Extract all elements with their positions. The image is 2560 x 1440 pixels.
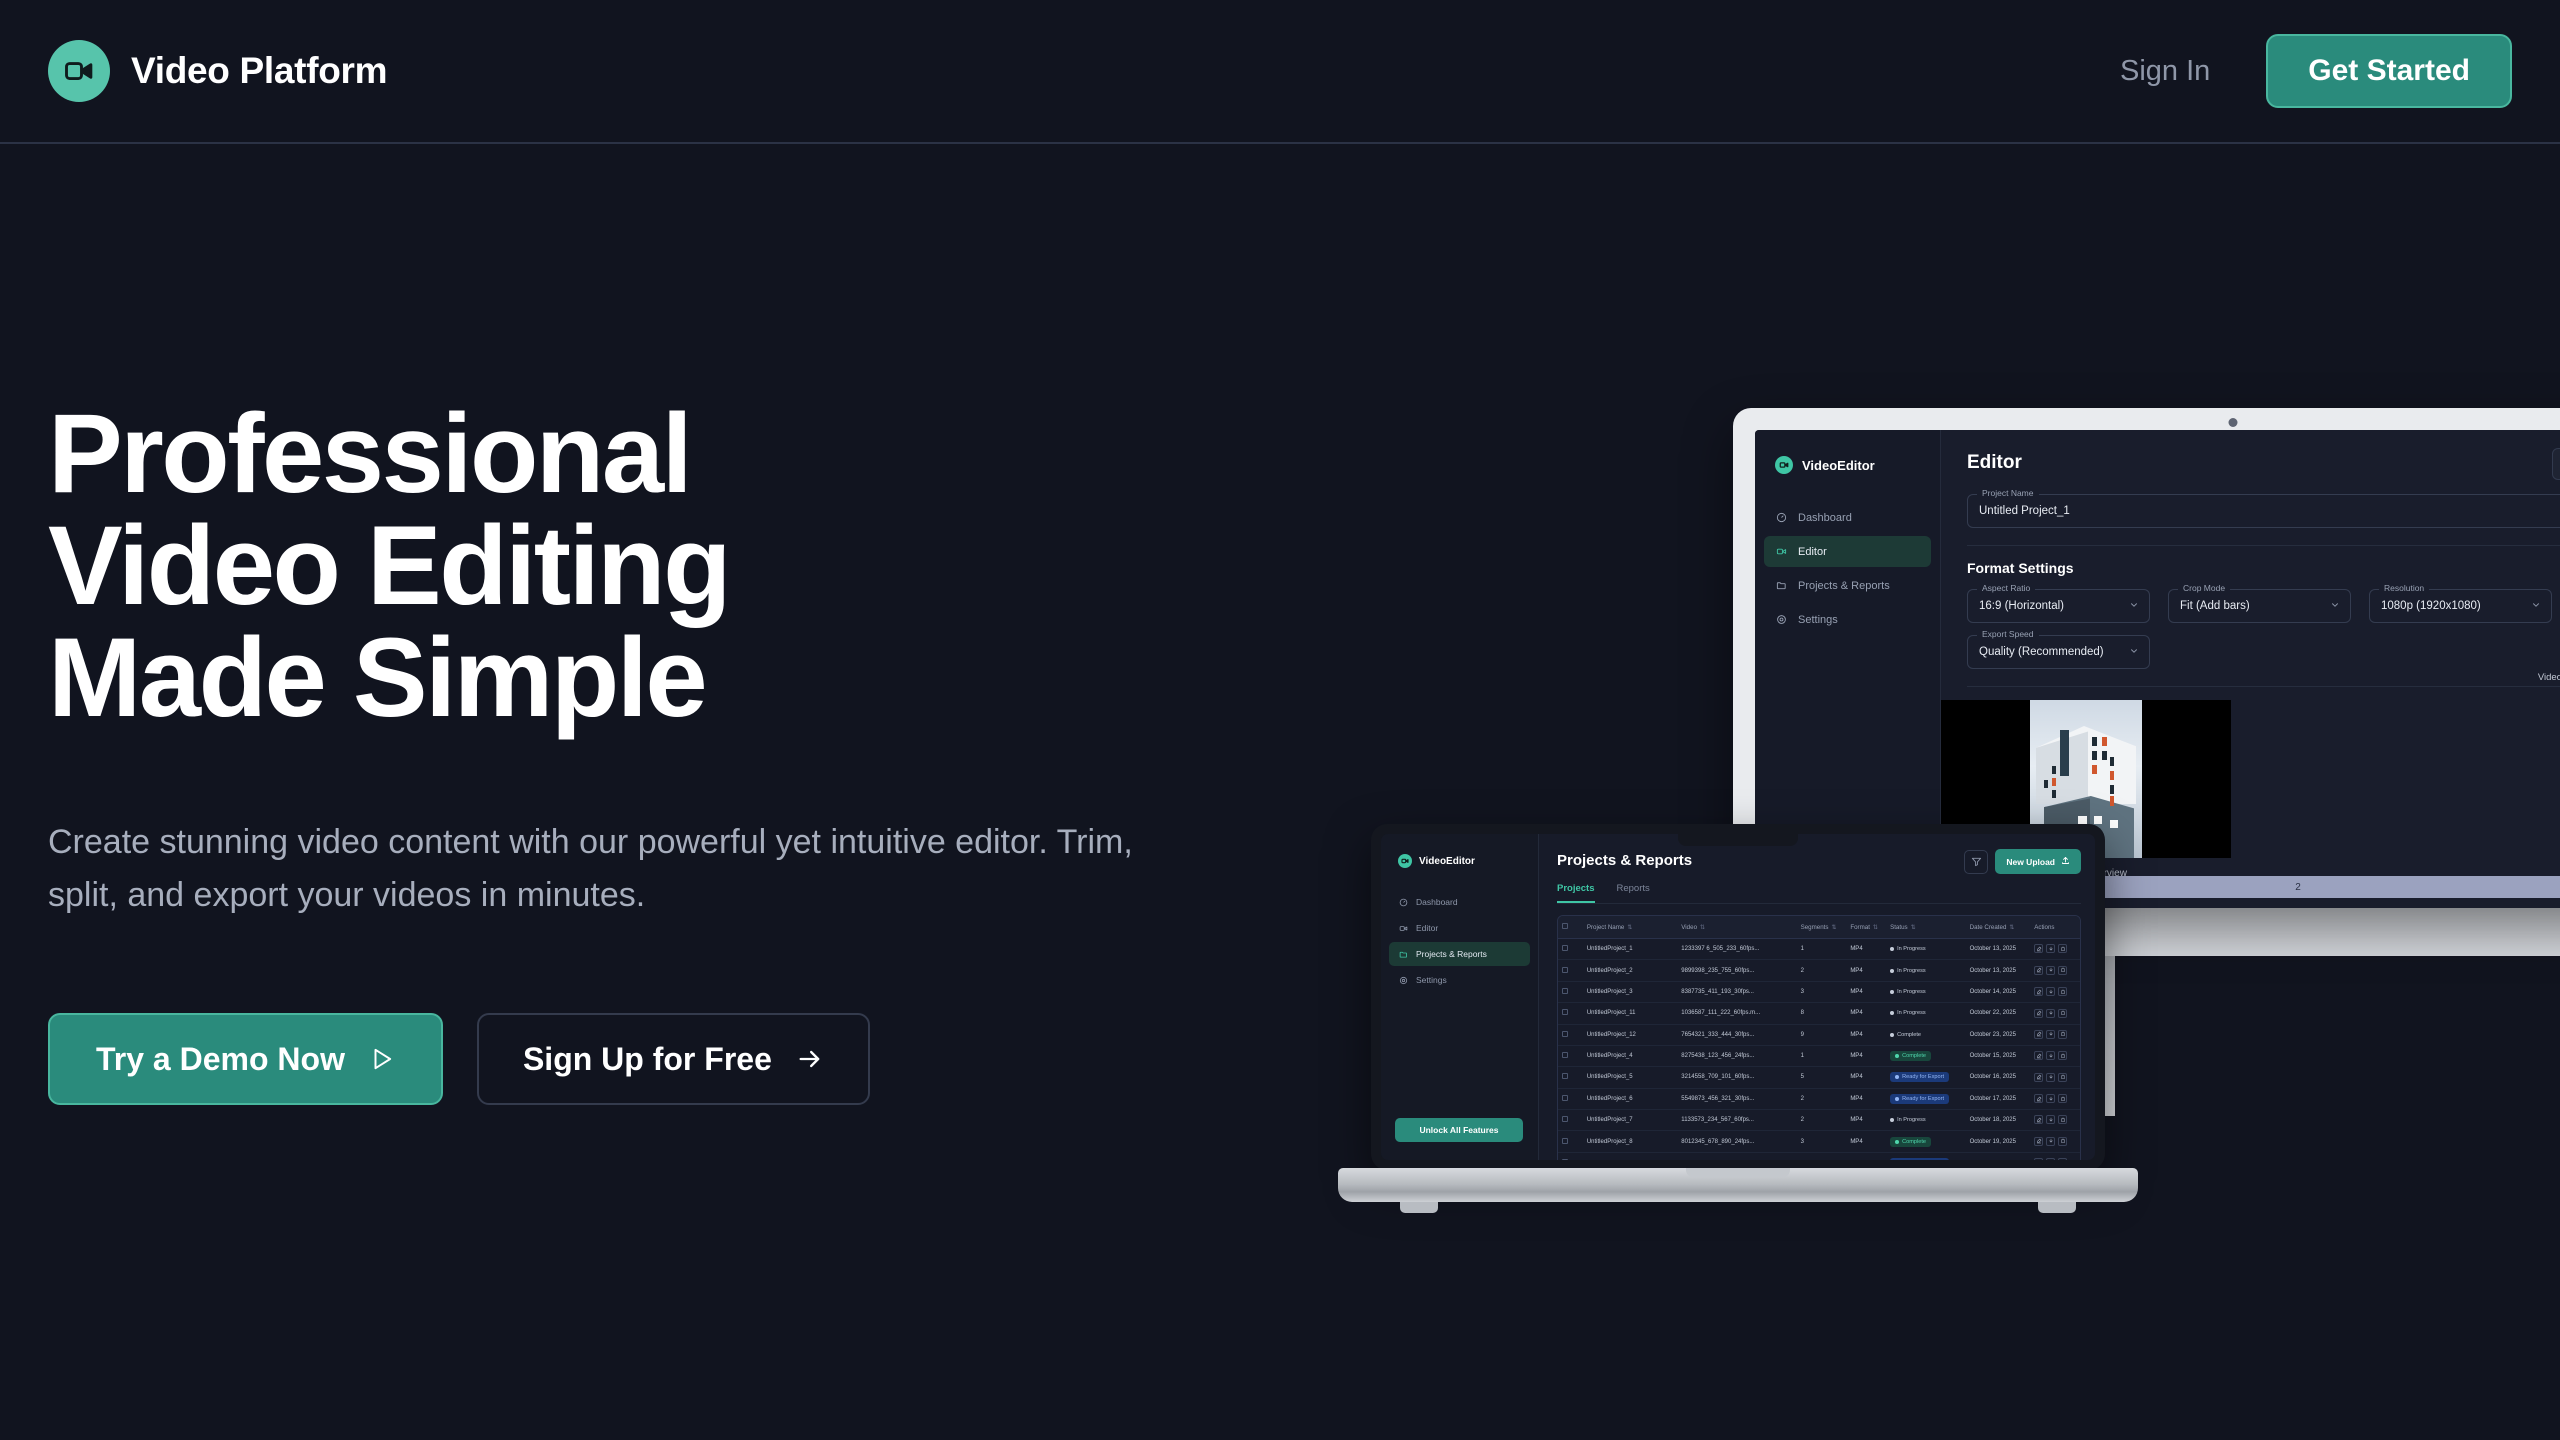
download-icon[interactable] xyxy=(2046,966,2055,975)
gear-icon xyxy=(1775,613,1788,626)
export-speed-select[interactable]: Export Speed Quality (Recommended) xyxy=(1967,635,2150,669)
cell-actions xyxy=(2030,1045,2080,1066)
table-row[interactable]: UntitledProject_92345678_123_456_60fps..… xyxy=(1558,1152,2080,1160)
row-checkbox[interactable] xyxy=(1562,1095,1568,1101)
cell-date-created: October 13, 2025 xyxy=(1966,960,2031,981)
cell-project-name: UntitledProject_11 xyxy=(1583,1003,1677,1024)
laptop-lid: VideoEditor Dashboard Editor xyxy=(1371,824,2105,1170)
edit-icon[interactable] xyxy=(2034,966,2043,975)
folder-icon xyxy=(1398,949,1408,959)
download-icon[interactable] xyxy=(2046,1137,2055,1146)
download-icon[interactable] xyxy=(2046,1115,2055,1124)
projects-table-container: Project Name⇅ Video⇅ Segments⇅ Format⇅ S… xyxy=(1557,915,2081,1160)
cell-format: MP4 xyxy=(1846,1067,1886,1088)
laptop-base-notch xyxy=(1686,1168,1790,1177)
cell-project-name: UntitledProject_8 xyxy=(1583,1131,1677,1152)
cell-status: Ready for Export xyxy=(1886,1067,1966,1088)
chevron-down-icon xyxy=(2129,597,2139,615)
projects-brand: VideoEditor xyxy=(1381,854,1538,868)
cell-select[interactable] xyxy=(1558,1003,1583,1024)
cell-date-created: October 15, 2025 xyxy=(1966,1045,2031,1066)
cell-actions xyxy=(2030,1131,2080,1152)
select-all-checkbox[interactable] xyxy=(1562,923,1568,929)
cell-segments: 4 xyxy=(1797,1152,1847,1160)
cell-segments: 3 xyxy=(1797,981,1847,1002)
project-name-legend: Project Name xyxy=(1977,488,2039,498)
get-started-button[interactable]: Get Started xyxy=(2266,34,2512,108)
sidebar-item-settings[interactable]: Settings xyxy=(1764,604,1931,635)
cell-format: MP4 xyxy=(1846,1088,1886,1109)
status-badge: Ready for Export xyxy=(1890,1094,1949,1104)
hero-cta-group: Try a Demo Now Sign Up for Free xyxy=(48,1013,1168,1105)
cell-actions xyxy=(2030,1110,2080,1131)
download-icon[interactable] xyxy=(2046,1158,2055,1160)
edit-icon[interactable] xyxy=(2034,944,2043,953)
sidebar-item-label: Dashboard xyxy=(1798,512,1852,524)
laptop-screen: VideoEditor Dashboard Editor xyxy=(1381,834,2095,1160)
cell-date-created: October 17, 2025 xyxy=(1966,1088,2031,1109)
cell-video: 9899398_235_755_60fps... xyxy=(1677,960,1796,981)
new-upload-label: New Upload xyxy=(2006,857,2055,867)
laptop-foot-left xyxy=(1400,1202,1438,1213)
cell-format: MP4 xyxy=(1846,1152,1886,1160)
row-checkbox[interactable] xyxy=(1562,1052,1568,1058)
export-speed-value: Quality (Recommended) xyxy=(1979,646,2104,658)
brand[interactable]: Video Platform xyxy=(48,40,387,102)
cell-status: In Progress xyxy=(1886,960,1966,981)
cell-actions xyxy=(2030,1067,2080,1088)
cell-date-created: October 18, 2025 xyxy=(1966,1110,2031,1131)
aspect-ratio-value: 16:9 (Horizontal) xyxy=(1979,600,2064,612)
table-row[interactable]: UntitledProject_11233397 6_505_233_60fps… xyxy=(1558,939,2080,960)
table-row[interactable]: UntitledProject_127654321_333_444_30fps.… xyxy=(1558,1024,2080,1045)
status-badge: In Progress xyxy=(1890,987,1931,997)
hero-title-line-1: Professional xyxy=(48,398,1168,510)
sidebar-item-editor[interactable]: Editor xyxy=(1764,536,1931,567)
cell-select[interactable] xyxy=(1558,960,1583,981)
download-icon[interactable] xyxy=(2046,1009,2055,1018)
cell-video: 8387735_411_193_30fps... xyxy=(1677,981,1796,1002)
aspect-ratio-legend: Aspect Ratio xyxy=(1977,583,2035,593)
cell-date-created: October 14, 2025 xyxy=(1966,981,2031,1002)
trash-icon[interactable] xyxy=(2058,1094,2067,1103)
status-badge: In Progress xyxy=(1890,1008,1931,1018)
projects-nav: Dashboard Editor Projects & Reports xyxy=(1381,890,1538,992)
divider xyxy=(1967,545,2560,546)
status-badge: In Progress xyxy=(1890,966,1931,976)
cell-status: In Progress xyxy=(1886,1110,1966,1131)
sign-up-label: Sign Up for Free xyxy=(523,1041,772,1078)
editor-page-title: Editor xyxy=(1967,452,2022,474)
hero-title-line-3: Made Simple xyxy=(48,622,1168,734)
cell-segments: 5 xyxy=(1797,1067,1847,1088)
chevron-down-icon xyxy=(2330,597,2340,615)
cell-segments: 8 xyxy=(1797,1003,1847,1024)
sidebar-item-label: Settings xyxy=(1416,975,1447,985)
editor-topbar: Editor xyxy=(1967,452,2560,474)
status-badge: In Progress xyxy=(1890,1115,1931,1125)
cell-actions xyxy=(2030,1152,2080,1160)
cell-status: In Progress xyxy=(1886,1003,1966,1024)
cell-project-name: UntitledProject_3 xyxy=(1583,981,1677,1002)
cell-video: 1133573_234_567_60fps... xyxy=(1677,1110,1796,1131)
cell-date-created: October 13, 2025 xyxy=(1966,939,2031,960)
sidebar-item-projects-reports[interactable]: Projects & Reports xyxy=(1389,942,1530,966)
cell-status: In Progress xyxy=(1886,939,1966,960)
row-checkbox[interactable] xyxy=(1562,988,1568,994)
video-camera-icon xyxy=(1775,545,1788,558)
row-checkbox[interactable] xyxy=(1562,1138,1568,1144)
status-badge: Ready for Export xyxy=(1890,1072,1949,1082)
site-header: Video Platform Sign In Get Started xyxy=(0,0,2560,144)
project-name-field[interactable]: Project Name Untitled Project_1 xyxy=(1967,494,2560,528)
cell-status: Ready for Export xyxy=(1886,1152,1966,1160)
download-icon[interactable] xyxy=(2046,1094,2055,1103)
cell-select[interactable] xyxy=(1558,1110,1583,1131)
th-segments[interactable]: Segments⇅ xyxy=(1797,916,1847,939)
video-camera-icon xyxy=(1775,456,1793,474)
cell-segments: 3 xyxy=(1797,1131,1847,1152)
status-badge: Ready for Export xyxy=(1890,1158,1949,1160)
cell-project-name: UntitledProject_12 xyxy=(1583,1024,1677,1045)
video-player-size-label: Video player size xyxy=(2538,672,2560,683)
editor-brand-name: VideoEditor xyxy=(1802,458,1875,473)
try-demo-button[interactable]: Try a Demo Now xyxy=(48,1013,443,1105)
resolution-legend: Resolution xyxy=(2379,583,2429,593)
download-icon[interactable] xyxy=(2046,1030,2055,1039)
trash-icon[interactable] xyxy=(2058,1115,2067,1124)
projects-sidebar: VideoEditor Dashboard Editor xyxy=(1381,834,1539,1160)
status-badge: In Progress xyxy=(1890,944,1931,954)
cell-format: MP4 xyxy=(1846,1003,1886,1024)
projects-table: Project Name⇅ Video⇅ Segments⇅ Format⇅ S… xyxy=(1558,916,2080,1160)
table-header-row: Project Name⇅ Video⇅ Segments⇅ Format⇅ S… xyxy=(1558,916,2080,939)
header-actions: Sign In Get Started xyxy=(2120,34,2512,108)
try-demo-label: Try a Demo Now xyxy=(96,1041,345,1078)
edit-icon[interactable] xyxy=(2034,1009,2043,1018)
th-select[interactable] xyxy=(1558,916,1583,939)
cell-actions xyxy=(2030,1024,2080,1045)
gear-icon xyxy=(1398,975,1408,985)
cell-segments: 9 xyxy=(1797,1024,1847,1045)
cell-status: Complete xyxy=(1886,1045,1966,1066)
folder-icon xyxy=(1775,579,1788,592)
video-camera-icon xyxy=(1398,854,1412,868)
laptop-foot-right xyxy=(2038,1202,2076,1213)
play-triangle-icon xyxy=(369,1046,395,1072)
gauge-icon xyxy=(1398,897,1408,907)
projects-tabs: Projects Reports xyxy=(1557,883,2081,904)
projects-table-body: UntitledProject_11233397 6_505_233_60fps… xyxy=(1558,939,2080,1161)
table-row[interactable]: UntitledProject_53214558_709_101_60fps..… xyxy=(1558,1067,2080,1088)
download-icon[interactable] xyxy=(2046,987,2055,996)
trash-icon[interactable] xyxy=(2058,1137,2067,1146)
editor-nav: Dashboard Editor Projects xyxy=(1755,502,1940,635)
cell-actions xyxy=(2030,1088,2080,1109)
projects-brand-name: VideoEditor xyxy=(1419,856,1475,867)
upload-icon xyxy=(2061,856,2070,867)
editor-top-actions: Save Export xyxy=(2552,448,2560,480)
format-row-1: Aspect Ratio 16:9 (Horizontal) Crop Mode… xyxy=(1967,589,2560,623)
divider xyxy=(1967,686,2560,687)
trash-icon[interactable] xyxy=(2058,1158,2067,1160)
cell-select[interactable] xyxy=(1558,1024,1583,1045)
sidebar-item-dashboard[interactable]: Dashboard xyxy=(1389,890,1530,914)
funnel-icon[interactable] xyxy=(1964,850,1988,874)
row-checkbox[interactable] xyxy=(1562,1159,1568,1160)
th-video[interactable]: Video⇅ xyxy=(1677,916,1796,939)
table-row[interactable]: UntitledProject_48275438_123_456_24fps..… xyxy=(1558,1045,2080,1066)
cell-project-name: UntitledProject_6 xyxy=(1583,1088,1677,1109)
export-speed-legend: Export Speed xyxy=(1977,629,2039,639)
trash-icon[interactable] xyxy=(2058,1030,2067,1039)
cell-segments: 2 xyxy=(1797,1088,1847,1109)
projects-main: Projects & Reports New Upload xyxy=(1539,834,2095,1160)
cell-format: MP4 xyxy=(1846,1110,1886,1131)
projects-top-actions: New Upload xyxy=(1964,849,2081,874)
row-checkbox[interactable] xyxy=(1562,945,1568,951)
th-project-name[interactable]: Project Name⇅ xyxy=(1583,916,1677,939)
hero-subtitle: Create stunning video content with our p… xyxy=(48,816,1138,921)
chevron-down-icon xyxy=(2129,643,2139,661)
cell-date-created: October 19, 2025 xyxy=(1966,1131,2031,1152)
cell-project-name: UntitledProject_4 xyxy=(1583,1045,1677,1066)
hero-section: Professional Video Editing Made Simple C… xyxy=(48,398,1168,1105)
sidebar-item-label: Settings xyxy=(1798,614,1838,626)
cell-project-name: UntitledProject_7 xyxy=(1583,1110,1677,1131)
cell-video: 2345678_123_456_60fps... xyxy=(1677,1152,1796,1160)
new-upload-button[interactable]: New Upload xyxy=(1995,849,2081,874)
laptop-mockup: VideoEditor Dashboard Editor xyxy=(1338,824,2138,1220)
cell-actions xyxy=(2030,981,2080,1002)
table-row[interactable]: UntitledProject_29899398_235_755_60fps..… xyxy=(1558,960,2080,981)
table-row[interactable]: UntitledProject_65549873_456_321_30fps..… xyxy=(1558,1088,2080,1109)
cell-segments: 1 xyxy=(1797,939,1847,960)
status-badge: Complete xyxy=(1890,1137,1931,1147)
crop-mode-select[interactable]: Crop Mode Fit (Add bars) xyxy=(2168,589,2351,623)
cell-select[interactable] xyxy=(1558,1152,1583,1160)
cell-video: 1233397 6_505_233_60fps... xyxy=(1677,939,1796,960)
cell-format: MP4 xyxy=(1846,981,1886,1002)
download-icon[interactable] xyxy=(2046,944,2055,953)
cell-select[interactable] xyxy=(1558,939,1583,960)
cell-format: MP4 xyxy=(1846,1131,1886,1152)
tab-reports[interactable]: Reports xyxy=(1617,883,1650,903)
cell-format: MP4 xyxy=(1846,960,1886,981)
timeline-value: 2 xyxy=(2295,882,2301,893)
cell-segments: 2 xyxy=(1797,960,1847,981)
resolution-select[interactable]: Resolution 1080p (1920x1080) xyxy=(2369,589,2552,623)
cell-date-created: October 16, 2025 xyxy=(1966,1067,2031,1088)
trash-icon[interactable] xyxy=(2058,1073,2067,1082)
monitor-camera-icon xyxy=(2229,418,2238,427)
sidebar-item-label: Dashboard xyxy=(1416,897,1458,907)
cell-status: In Progress xyxy=(1886,981,1966,1002)
trash-icon[interactable] xyxy=(2058,1051,2067,1060)
edit-icon[interactable] xyxy=(2034,1094,2043,1103)
cell-date-created: October 23, 2025 xyxy=(1966,1024,2031,1045)
trash-icon[interactable] xyxy=(2058,987,2067,996)
cell-status: Complete xyxy=(1886,1024,1966,1045)
table-row[interactable]: UntitledProject_71133573_234_567_60fps..… xyxy=(1558,1110,2080,1131)
status-badge: Complete xyxy=(1890,1051,1931,1061)
resolution-value: 1080p (1920x1080) xyxy=(2381,600,2481,612)
sidebar-item-label: Projects & Reports xyxy=(1416,949,1487,959)
chevron-down-icon xyxy=(2531,597,2541,615)
cell-select[interactable] xyxy=(1558,981,1583,1002)
trash-icon[interactable] xyxy=(2058,1009,2067,1018)
format-row-2: Export Speed Quality (Recommended) xyxy=(1967,635,2560,669)
editor-brand: VideoEditor xyxy=(1755,456,1940,474)
cell-format: MP4 xyxy=(1846,939,1886,960)
table-row[interactable]: UntitledProject_88012345_678_890_24fps..… xyxy=(1558,1131,2080,1152)
edit-icon[interactable] xyxy=(2034,1115,2043,1124)
th-date-created[interactable]: Date Created⇅ xyxy=(1966,916,2031,939)
cell-segments: 1 xyxy=(1797,1045,1847,1066)
edit-icon[interactable] xyxy=(2034,1137,2043,1146)
sign-in-link[interactable]: Sign In xyxy=(2120,55,2210,88)
cell-actions xyxy=(2030,1003,2080,1024)
th-status[interactable]: Status⇅ xyxy=(1886,916,1966,939)
table-row[interactable]: UntitledProject_111036587_111_222_60fps.… xyxy=(1558,1003,2080,1024)
device-mockups: VideoEditor Dashboard xyxy=(1330,380,2560,1220)
row-checkbox[interactable] xyxy=(1562,1116,1568,1122)
cell-project-name: UntitledProject_5 xyxy=(1583,1067,1677,1088)
video-camera-icon xyxy=(48,40,110,102)
cell-video: 7654321_333_444_30fps... xyxy=(1677,1024,1796,1045)
row-checkbox[interactable] xyxy=(1562,1073,1568,1079)
cell-status: Ready for Export xyxy=(1886,1088,1966,1109)
landing-page: Video Platform Sign In Get Started Profe… xyxy=(0,0,2560,1440)
format-settings-title: Format Settings xyxy=(1967,560,2560,576)
edit-icon[interactable] xyxy=(2034,1073,2043,1082)
row-checkbox[interactable] xyxy=(1562,1009,1568,1015)
project-name-value: Untitled Project_1 xyxy=(1979,505,2070,517)
cell-project-name: UntitledProject_9 xyxy=(1583,1152,1677,1160)
crop-mode-legend: Crop Mode xyxy=(2178,583,2230,593)
gauge-icon xyxy=(1775,511,1788,524)
cell-select[interactable] xyxy=(1558,1088,1583,1109)
cell-segments: 2 xyxy=(1797,1110,1847,1131)
cell-select[interactable] xyxy=(1558,1045,1583,1066)
row-checkbox[interactable] xyxy=(1562,1031,1568,1037)
cell-format: MP4 xyxy=(1846,1024,1886,1045)
save-button[interactable]: Save xyxy=(2552,448,2560,480)
cell-actions xyxy=(2030,960,2080,981)
edit-icon[interactable] xyxy=(2034,987,2043,996)
cell-status: Complete xyxy=(1886,1131,1966,1152)
cell-video: 3214558_709_101_60fps... xyxy=(1677,1067,1796,1088)
video-camera-icon xyxy=(1398,923,1408,933)
cell-format: MP4 xyxy=(1846,1045,1886,1066)
cell-video: 8275438_123_456_24fps... xyxy=(1677,1045,1796,1066)
sidebar-item-editor[interactable]: Editor xyxy=(1389,916,1530,940)
th-format[interactable]: Format⇅ xyxy=(1846,916,1886,939)
crop-mode-value: Fit (Add bars) xyxy=(2180,600,2250,612)
tab-projects[interactable]: Projects xyxy=(1557,883,1595,903)
aspect-ratio-select[interactable]: Aspect Ratio 16:9 (Horizontal) xyxy=(1967,589,2150,623)
cell-video: 5549873_456_321_30fps... xyxy=(1677,1088,1796,1109)
cell-date-created: October 22, 2025 xyxy=(1966,1003,2031,1024)
th-actions: Actions xyxy=(2030,916,2080,939)
cell-video: 8012345_678_890_24fps... xyxy=(1677,1131,1796,1152)
edit-icon[interactable] xyxy=(2034,1030,2043,1039)
sidebar-item-settings[interactable]: Settings xyxy=(1389,968,1530,992)
row-checkbox[interactable] xyxy=(1562,967,1568,973)
cell-select[interactable] xyxy=(1558,1067,1583,1088)
download-icon[interactable] xyxy=(2046,1073,2055,1082)
cell-actions xyxy=(2030,939,2080,960)
video-player-size-control[interactable]: Video player size xyxy=(2538,672,2560,683)
edit-icon[interactable] xyxy=(2034,1051,2043,1060)
brand-name: Video Platform xyxy=(131,50,387,92)
sign-up-button[interactable]: Sign Up for Free xyxy=(477,1013,870,1105)
cell-date-created: October 20, 2025 xyxy=(1966,1152,2031,1160)
sidebar-item-label: Projects & Reports xyxy=(1798,580,1890,592)
sidebar-item-label: Editor xyxy=(1416,923,1438,933)
arrow-right-icon xyxy=(796,1045,824,1073)
table-row[interactable]: UntitledProject_38387735_411_193_30fps..… xyxy=(1558,981,2080,1002)
laptop-notch xyxy=(1678,834,1798,846)
cell-select[interactable] xyxy=(1558,1131,1583,1152)
status-badge: Complete xyxy=(1890,1030,1926,1040)
cell-project-name: UntitledProject_1 xyxy=(1583,939,1677,960)
sidebar-item-dashboard[interactable]: Dashboard xyxy=(1764,502,1931,533)
page-title: Professional Video Editing Made Simple xyxy=(48,398,1168,734)
hero-title-line-2: Video Editing xyxy=(48,510,1168,622)
unlock-all-features-button[interactable]: Unlock All Features xyxy=(1395,1118,1523,1142)
sidebar-item-projects-reports[interactable]: Projects & Reports xyxy=(1764,570,1931,601)
trash-icon[interactable] xyxy=(2058,966,2067,975)
sidebar-item-label: Editor xyxy=(1798,546,1827,558)
download-icon[interactable] xyxy=(2046,1051,2055,1060)
trash-icon[interactable] xyxy=(2058,944,2067,953)
cell-project-name: UntitledProject_2 xyxy=(1583,960,1677,981)
edit-icon[interactable] xyxy=(2034,1158,2043,1160)
cell-video: 1036587_111_222_60fps.m... xyxy=(1677,1003,1796,1024)
